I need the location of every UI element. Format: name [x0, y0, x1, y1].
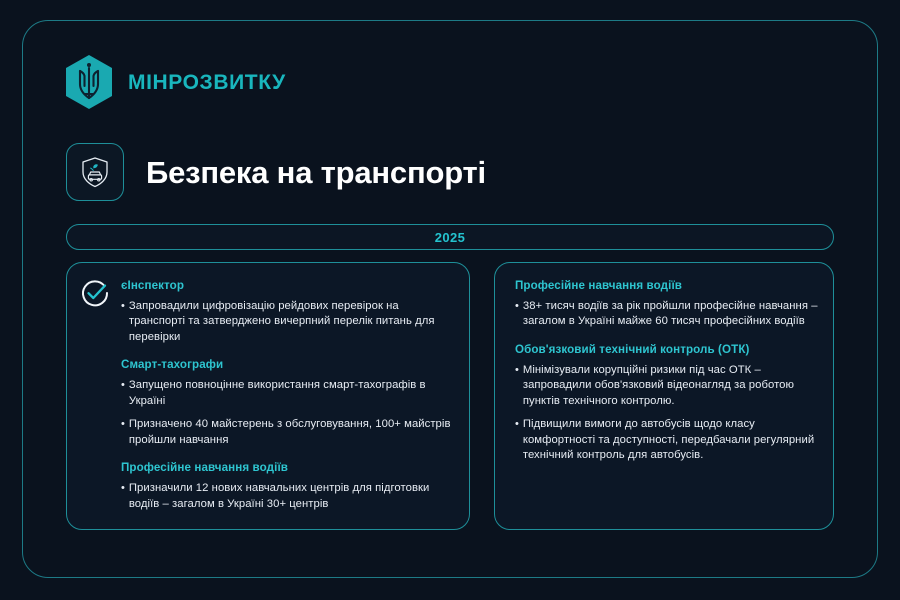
group-einspector: єІнспектор • Запровадили цифровізацію ре… [121, 279, 453, 345]
page-title: Безпека на транспорті [146, 157, 486, 188]
list-item: • Призначено 40 майстерень з обслуговува… [121, 417, 453, 448]
bullet-marker: • [121, 481, 129, 512]
year-label: 2025 [435, 231, 466, 244]
group-title: єІнспектор [121, 279, 453, 293]
list-item: • Призначили 12 нових навчальних центрів… [121, 481, 453, 512]
group-mandatory-technical-control: Обов'язковий технічний контроль (ОТК) • … [515, 343, 819, 464]
bullet-text: Запровадили цифровізацію рейдових переві… [129, 299, 453, 346]
shield-vehicle-icon [66, 143, 124, 201]
list-item: • 38+ тисяч водіїв за рік пройшли профес… [515, 299, 819, 330]
bullet-marker: • [515, 417, 523, 464]
group-title: Професійне навчання водіїв [121, 461, 453, 475]
group-title: Професійне навчання водіїв [515, 279, 819, 293]
bullet-text: Призначили 12 нових навчальних центрів д… [129, 481, 453, 512]
list-item: • Запровадили цифровізацію рейдових пере… [121, 299, 453, 346]
card-right: Професійне навчання водіїв • 38+ тисяч в… [494, 262, 834, 530]
bullet-text: 38+ тисяч водіїв за рік пройшли професій… [523, 299, 819, 330]
list-item: • Запущено повноцінне використання смарт… [121, 378, 453, 409]
bullet-text: Запущено повноцінне використання смарт-т… [129, 378, 453, 409]
content-cards: єІнспектор • Запровадили цифровізацію ре… [66, 262, 834, 530]
slide-root: МІНРОЗВИТКУ Безпека на транспорті 2025 [0, 0, 900, 600]
year-banner: 2025 [66, 224, 834, 250]
group-title: Смарт-тахографи [121, 358, 453, 372]
bullet-text: Призначено 40 майстерень з обслуговуванн… [129, 417, 453, 448]
bullet-text: Мінімізували корупційні ризики під час О… [523, 363, 819, 410]
card-left: єІнспектор • Запровадили цифровізацію ре… [66, 262, 470, 530]
brand-name: МІНРОЗВИТКУ [128, 72, 286, 93]
group-smart-tachographs: Смарт-тахографи • Запущено повноцінне ви… [121, 358, 453, 448]
bullet-marker: • [121, 299, 129, 346]
check-circle-icon [79, 277, 111, 309]
group-driver-training-left: Професійне навчання водіїв • Призначили … [121, 461, 453, 512]
card-right-body: Професійне навчання водіїв • 38+ тисяч в… [515, 279, 819, 464]
list-item: • Підвищили вимоги до автобусів щодо кла… [515, 417, 819, 464]
bullet-marker: • [515, 299, 523, 330]
bullet-text: Підвищили вимоги до автобусів щодо класу… [523, 417, 819, 464]
title-row: Безпека на транспорті [66, 143, 486, 201]
bullet-marker: • [515, 363, 523, 410]
group-driver-training-right: Професійне навчання водіїв • 38+ тисяч в… [515, 279, 819, 330]
card-left-body: єІнспектор • Запровадили цифровізацію ре… [85, 279, 453, 512]
brand-row: МІНРОЗВИТКУ [64, 54, 286, 110]
group-title: Обов'язковий технічний контроль (ОТК) [515, 343, 819, 357]
ukraine-trident-hexagon-icon [64, 54, 114, 110]
bullet-marker: • [121, 417, 129, 448]
bullet-marker: • [121, 378, 129, 409]
list-item: • Мінімізували корупційні ризики під час… [515, 363, 819, 410]
